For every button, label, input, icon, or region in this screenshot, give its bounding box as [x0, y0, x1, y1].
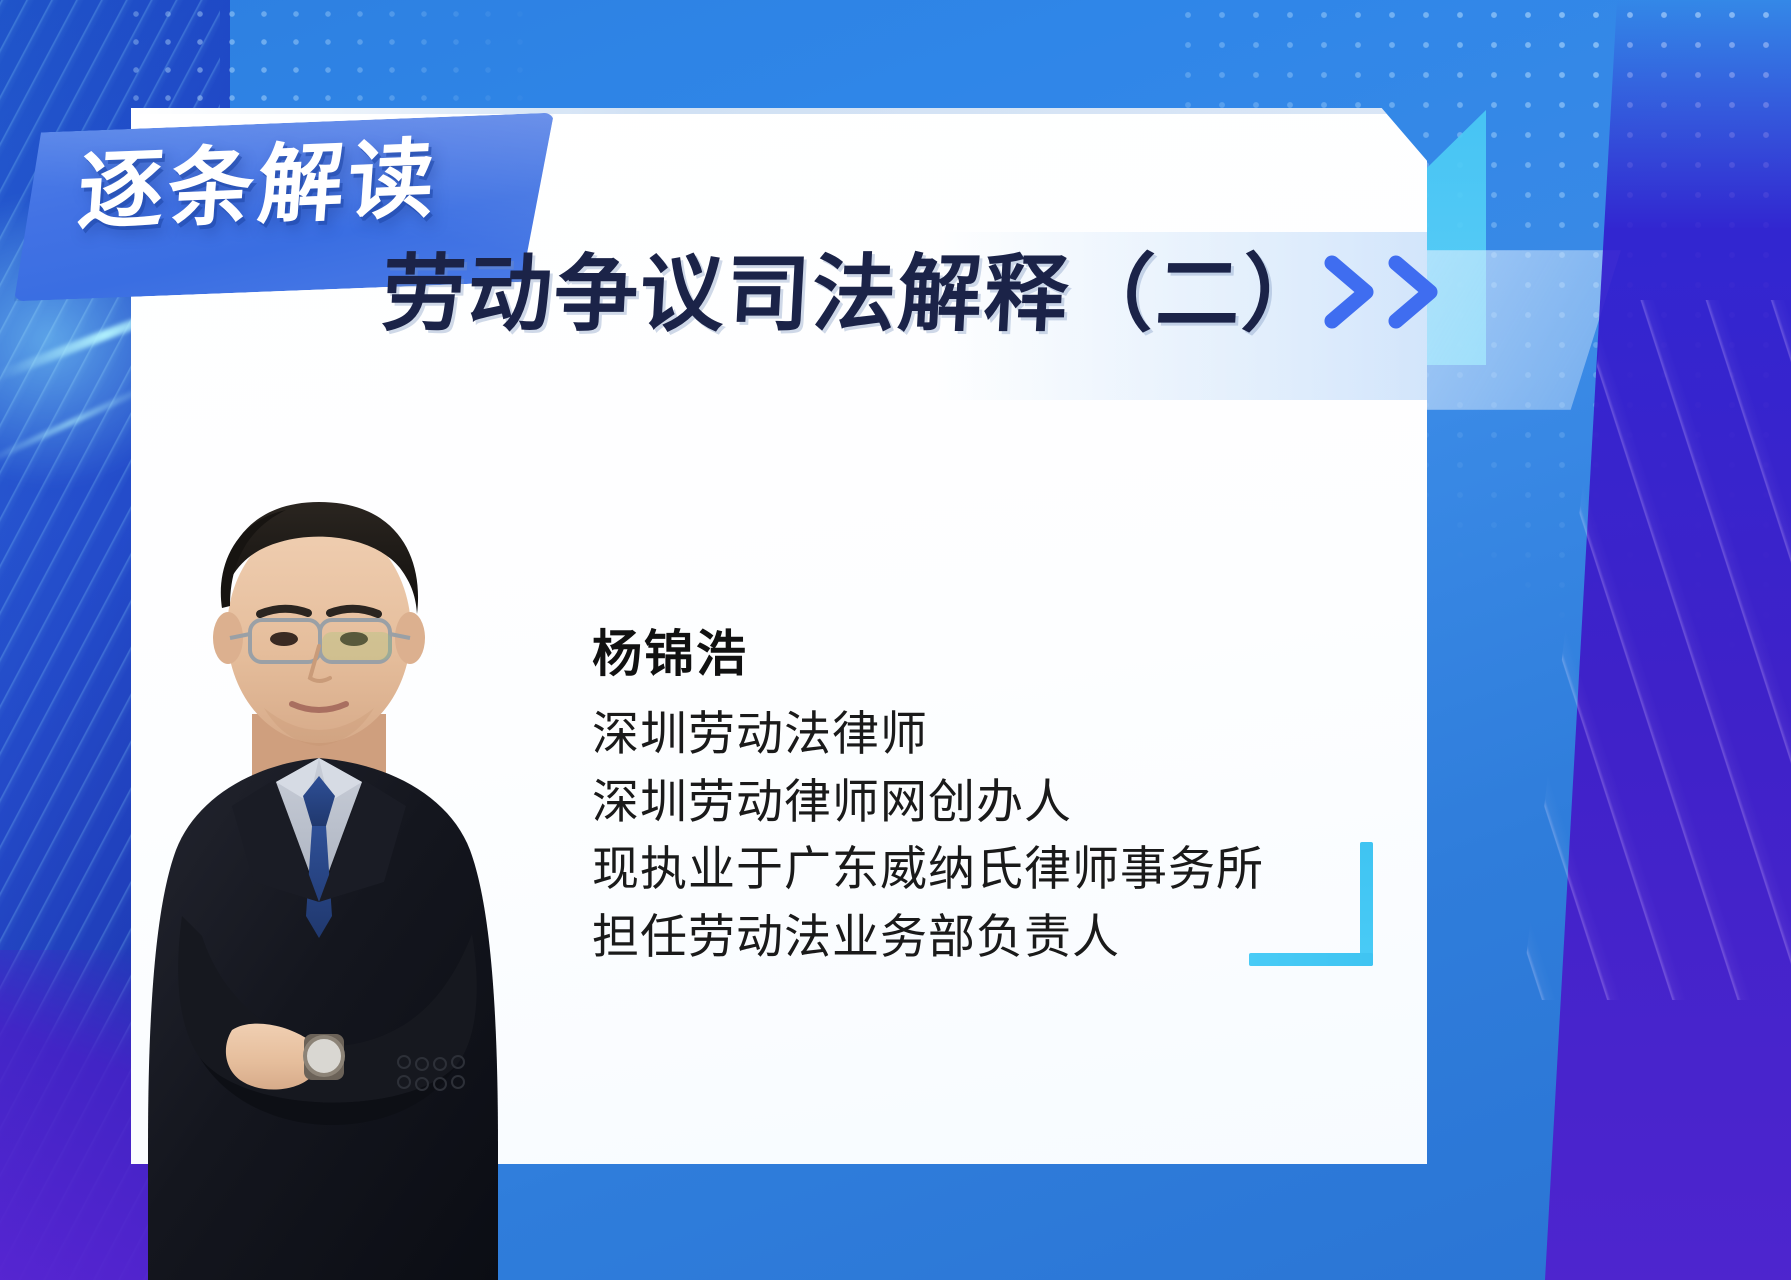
poster-canvas: 逐条解读 劳动争议司法解释（二） — [0, 0, 1791, 1280]
chevron-right-icon-second — [1386, 255, 1444, 329]
tag-banner-label: 逐条解读 — [75, 134, 501, 236]
speaker-bio-list: 深圳劳动法律师 深圳劳动律师网创办人 现执业于广东威纳氏律师事务所 担任劳动法业… — [592, 700, 1312, 971]
bio-line: 担任劳动法业务部负责人 — [592, 903, 1312, 971]
bio-line: 现执业于广东威纳氏律师事务所 — [592, 835, 1312, 903]
corner-bracket-horizontal — [1249, 953, 1373, 966]
bio-line: 深圳劳动律师网创办人 — [592, 768, 1312, 836]
card-top-shade — [131, 108, 1427, 114]
bio-line: 深圳劳动法律师 — [592, 700, 1312, 768]
double-chevron-arrows — [1322, 255, 1444, 329]
speaker-portrait — [104, 446, 534, 1280]
chevron-right-icon — [1322, 255, 1380, 329]
speaker-name: 杨锦浩 — [592, 614, 748, 686]
page-title: 劳动争议司法解释（二） — [380, 252, 1330, 336]
corner-bracket-vertical — [1360, 842, 1373, 966]
corner-bracket-decoration — [1249, 842, 1373, 966]
